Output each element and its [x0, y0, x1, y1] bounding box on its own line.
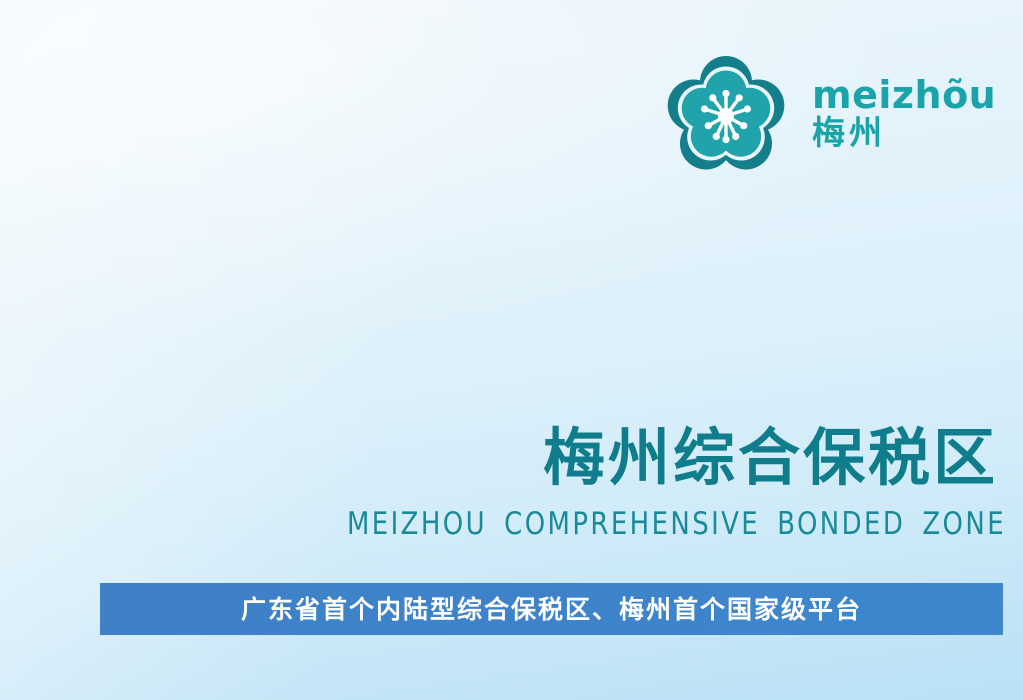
page-title-chinese: 梅州综合保税区	[298, 424, 998, 492]
plum-blossom-icon	[662, 52, 790, 180]
poster-canvas: meizhõu 梅州 梅州综合保税区 MEIZHOU COMPREHENSIVE…	[0, 0, 1023, 700]
tagline-banner-text: 广东省首个内陆型综合保税区、梅州首个国家级平台	[241, 597, 862, 622]
brand-logo-lockup: meizhõu 梅州	[662, 52, 996, 180]
brand-wordmark: meizhõu 梅州	[812, 76, 996, 157]
title-block: 梅州综合保税区 MEIZHOU COMPREHENSIVE BONDED ZON…	[298, 424, 998, 543]
page-title-english: MEIZHOU COMPREHENSIVE BONDED ZONE	[347, 506, 998, 543]
tagline-banner: 广东省首个内陆型综合保税区、梅州首个国家级平台	[100, 583, 1003, 635]
wordmark-latin: meizhõu	[812, 76, 996, 115]
wordmark-chinese: 梅州	[812, 115, 996, 152]
